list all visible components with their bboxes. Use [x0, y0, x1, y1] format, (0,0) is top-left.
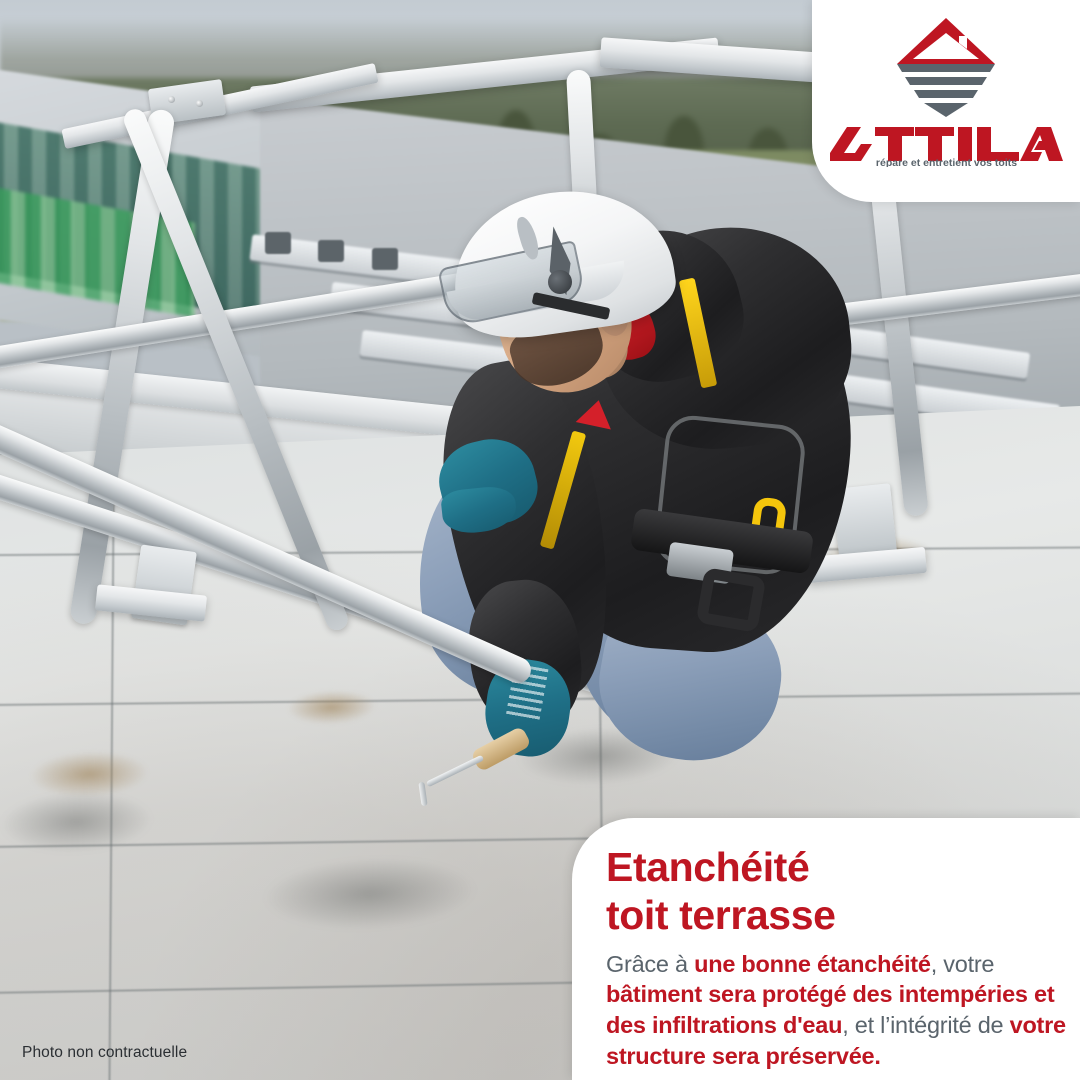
attila-diamond-roof-icon — [893, 16, 999, 120]
body-segment-red: une bonne étanchéité — [694, 951, 931, 977]
body-segment-gray: , et l’intégrité de — [842, 1012, 1009, 1038]
message-panel: Etanchéité toit terrasse Grâce à une bon… — [572, 818, 1080, 1080]
harness-leg-loop — [696, 567, 767, 633]
body-segment-gray: Grâce à — [606, 951, 694, 977]
headline: Etanchéité toit terrasse — [606, 844, 1066, 940]
attila-wordmark: répare et entretient vos toits — [829, 124, 1064, 167]
photo-disclaimer: Photo non contractuelle — [22, 1044, 187, 1062]
headline-line-2: toit terrasse — [606, 892, 1066, 940]
seam-probe-shaft — [426, 755, 484, 788]
brand-tagline-text: répare et entretient vos toits — [875, 157, 1016, 167]
body-copy: Grâce à une bonne étanchéité, votre bâti… — [606, 949, 1066, 1071]
seam-probe-hook — [418, 782, 427, 807]
headline-line-1: Etanchéité — [606, 844, 1066, 892]
poster-canvas: répare et entretient vos toits Etanchéit… — [0, 0, 1080, 1080]
helmet-adjuster-knob — [548, 270, 572, 294]
brand-logo-panel: répare et entretient vos toits — [812, 0, 1080, 202]
body-segment-gray: , votre — [931, 951, 995, 977]
